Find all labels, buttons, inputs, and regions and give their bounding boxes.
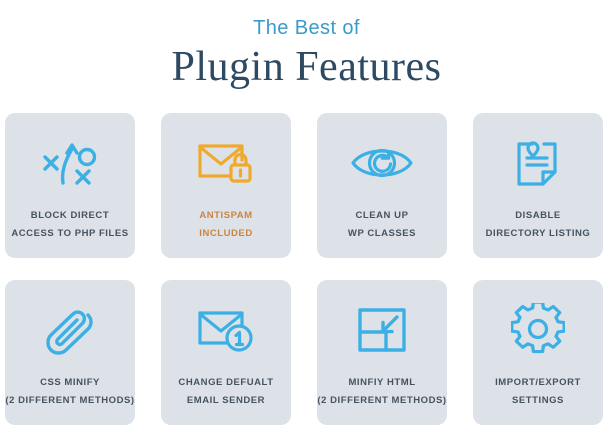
feature-label-line-1: BLOCK DIRECT [31,210,109,221]
feature-card-label: CSS MINIFY (2 DIFFERENT METHODS) [5,374,135,409]
feature-label-line-1: CHANGE DEFUALT [178,377,273,388]
feature-card-minify-html[interactable]: MINFIY HTML (2 DIFFERENT METHODS) [317,280,447,425]
feature-card-block-direct-access[interactable]: BLOCK DIRECT ACCESS TO PHP FILES [5,113,135,258]
tactics-board-icon [5,135,135,191]
feature-label-line-2: WP CLASSES [348,225,416,243]
feature-card-clean-up-wp-classes[interactable]: CLEAN UP WP CLASSES [317,113,447,258]
feature-label-line-2: ACCESS TO PHP FILES [11,225,128,243]
feature-label-line-1: DISABLE [515,210,561,221]
feature-card-label: ANTISPAM INCLUDED [194,207,257,242]
feature-card-label: IMPORT/EXPORT SETTINGS [490,374,586,409]
plugin-features-page: The Best of Plugin Features BLOCK DIRECT… [0,0,613,445]
feature-card-css-minify[interactable]: CSS MINIFY (2 DIFFERENT METHODS) [5,280,135,425]
feature-label-line-1: IMPORT/EXPORT [495,377,581,388]
feature-card-change-default-email-sender[interactable]: CHANGE DEFUALT EMAIL SENDER [161,280,291,425]
feature-grid: BLOCK DIRECT ACCESS TO PHP FILES ANTISPA… [5,113,608,425]
eye-refresh-icon [317,135,447,191]
envelope-lock-icon [161,135,291,191]
collapse-arrow-icon [317,302,447,358]
feature-card-disable-directory-listing[interactable]: DISABLE DIRECTORY LISTING [473,113,603,258]
feature-label-line-1: CSS MINIFY [40,377,100,388]
feature-card-antispam[interactable]: ANTISPAM INCLUDED [161,113,291,258]
feature-card-label: CLEAN UP WP CLASSES [343,207,421,242]
feature-label-line-1: CLEAN UP [356,210,409,221]
feature-label-line-1: ANTISPAM [199,210,252,221]
page-header: The Best of Plugin Features [0,0,613,91]
feature-label-line-2: DIRECTORY LISTING [486,225,591,243]
feature-card-label: MINFIY HTML (2 DIFFERENT METHODS) [317,374,447,409]
feature-card-label: DISABLE DIRECTORY LISTING [481,207,596,242]
feature-label-line-1: MINFIY HTML [348,377,415,388]
feature-card-label: CHANGE DEFUALT EMAIL SENDER [173,374,278,409]
feature-label-line-2: (2 DIFFERENT METHODS) [317,392,446,410]
envelope-badge-one-icon [161,302,291,358]
gear-icon [473,302,603,358]
feature-label-line-2: (2 DIFFERENT METHODS) [5,392,134,410]
feature-label-line-2: INCLUDED [199,225,252,243]
page-title: Plugin Features [0,43,613,91]
document-pin-icon [473,135,603,191]
paperclip-icon [5,302,135,358]
feature-label-line-2: EMAIL SENDER [178,392,273,410]
feature-label-line-2: SETTINGS [495,392,581,410]
feature-card-import-export-settings[interactable]: IMPORT/EXPORT SETTINGS [473,280,603,425]
feature-card-label: BLOCK DIRECT ACCESS TO PHP FILES [6,207,133,242]
page-subtitle: The Best of [0,16,613,41]
